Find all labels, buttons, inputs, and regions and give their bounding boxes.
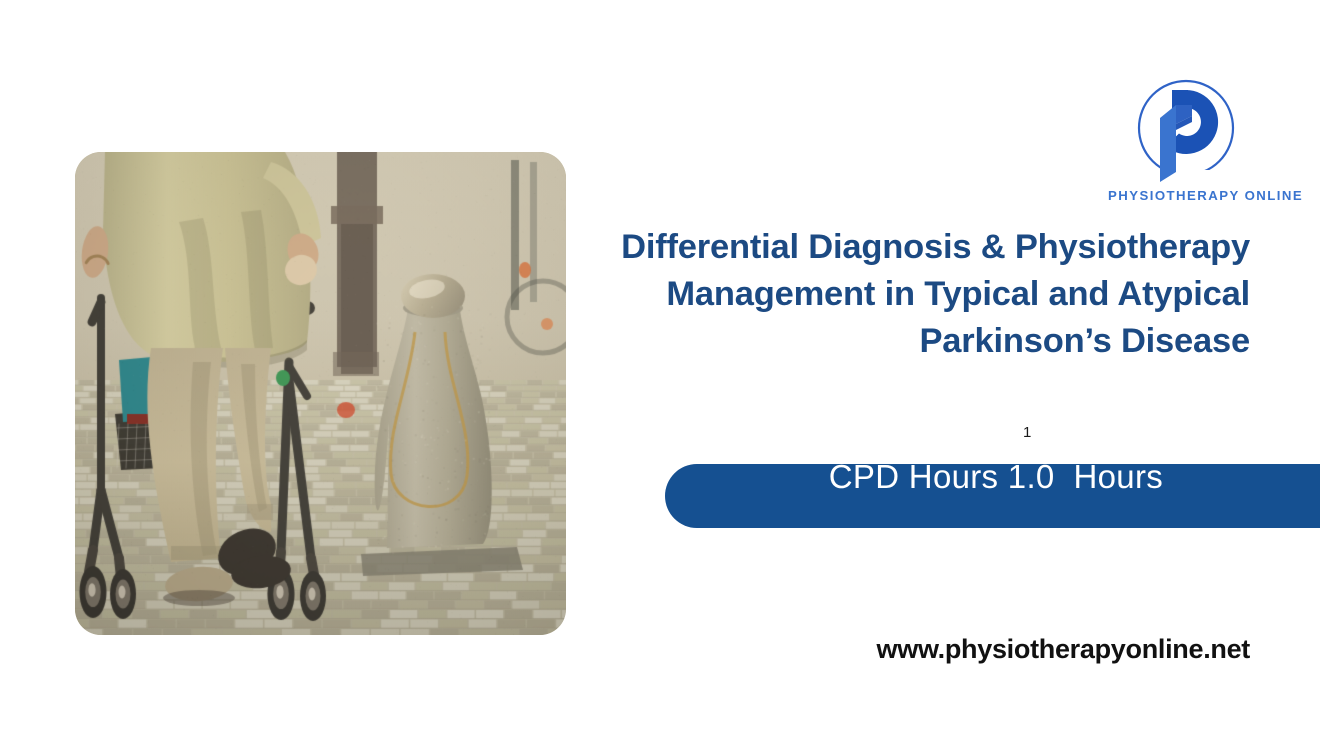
cpd-hours-text: CPD Hours 1.0 Hours [829, 458, 1163, 495]
brand-wordmark: PHYSIOTHERAPY ONLINE [1108, 188, 1274, 203]
physiotherapy-online-p-logo-icon [1120, 78, 1252, 186]
brand-logo: PHYSIOTHERAPY ONLINE [1108, 78, 1274, 210]
course-title: Differential Diagnosis & Physiotherapy M… [600, 224, 1250, 365]
cpd-hours-label: CPD Hours 1.0 Hours 1 [772, 420, 1163, 572]
promo-slide: PHYSIOTHERAPY ONLINE Differential Diagno… [0, 0, 1320, 743]
photo-canvas [75, 152, 566, 635]
cpd-overlay-digit: 1 [1023, 425, 1032, 440]
course-hero-photo [75, 152, 566, 635]
website-url: www.physiotherapyonline.net [600, 634, 1250, 665]
cpd-hours-banner: CPD Hours 1.0 Hours 1 [665, 464, 1320, 528]
